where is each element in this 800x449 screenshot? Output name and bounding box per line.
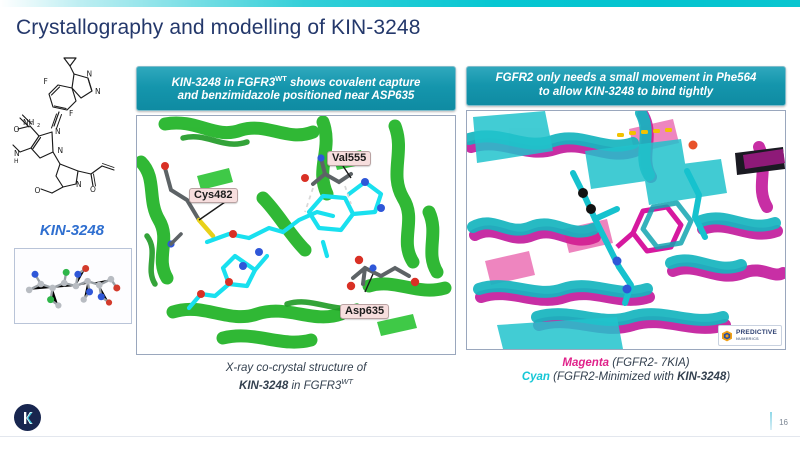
panel-left-header-sup: WT — [275, 74, 287, 83]
panel-right-header: FGFR2 only needs a small movement in Phe… — [466, 66, 786, 106]
panel-right-header-line1: FGFR2 only needs a small movement in Phe… — [496, 72, 757, 84]
svg-text:N: N — [95, 87, 101, 96]
legend-cyan-word: Cyan — [522, 371, 550, 383]
svg-text:O: O — [14, 125, 20, 134]
predictive-numerics-logo-icon — [721, 330, 733, 342]
badge-line2: NUMERICS — [736, 336, 777, 342]
page-number: 16 — [779, 418, 788, 427]
panel-right-caption: Magenta (FGFR2- 7KIA) Cyan (FGFR2-Minimi… — [466, 356, 786, 384]
svg-text:NH: NH — [23, 118, 34, 127]
svg-text:N: N — [58, 146, 64, 155]
panel-left-header-line2: and benzimidazole positioned near ASP635 — [178, 90, 415, 102]
fgfr3-structure-render — [137, 116, 455, 354]
compound-name-label: KIN-3248 — [8, 222, 136, 239]
panel-left-header-line1b: shows covalent capture — [287, 77, 421, 89]
residue-label-cys482: Cys482 — [189, 188, 238, 203]
kinnate-logo — [14, 404, 41, 431]
kin-3248-2d-chemical-structure: N N F F NH 2 O N N N H N O O — [8, 52, 136, 220]
residue-label-val555: Val555 — [327, 151, 371, 166]
svg-text:F: F — [44, 77, 48, 86]
svg-text:N: N — [14, 149, 20, 158]
page-number-rule — [770, 412, 772, 430]
svg-text:O: O — [90, 185, 96, 194]
fgfr2-overlay-render — [467, 111, 785, 349]
panel-fgfr3: KIN-3248 in FGFR3WT shows covalent captu… — [136, 66, 456, 393]
caption-left-sup: WT — [341, 377, 353, 386]
residue-label-asp635: Asp635 — [340, 304, 389, 319]
legend-cyan-detail-post: ) — [726, 371, 730, 383]
fgfr2-overlay-model-image: PREDICTIVE NUMERICS — [466, 110, 786, 350]
svg-text:H: H — [14, 158, 19, 165]
legend-magenta-detail: (FGFR2- 7KIA) — [609, 357, 690, 369]
fgfr3-wt-crystal-structure-image: Cys482 Val555 Asp635 — [136, 115, 456, 355]
kin-3248-3d-ball-stick-model — [15, 249, 131, 323]
svg-text:N: N — [55, 127, 61, 136]
k-logo-icon — [20, 410, 36, 426]
svg-text:F: F — [69, 109, 73, 118]
panel-left-caption: X-ray co-crystal structure of KIN-3248 i… — [136, 361, 456, 393]
svg-text:2: 2 — [37, 123, 40, 129]
legend-magenta-word: Magenta — [562, 357, 609, 369]
legend-cyan-compound: KIN-3248 — [677, 371, 726, 383]
caption-left-compound: KIN-3248 — [239, 380, 288, 392]
page-title: Crystallography and modelling of KIN-324… — [16, 16, 420, 40]
legend-cyan-detail-pre: (FGFR2-Minimized with — [550, 371, 677, 383]
top-accent-bar — [0, 0, 800, 7]
svg-text:O: O — [35, 186, 41, 195]
svg-text:N: N — [87, 70, 93, 79]
caption-left-line1: X-ray co-crystal structure of — [226, 362, 367, 374]
panel-left-header-line1: KIN-3248 in FGFR3 — [172, 77, 276, 89]
panel-fgfr2: FGFR2 only needs a small movement in Phe… — [466, 66, 786, 384]
caption-left-tail: in FGFR3 — [288, 380, 341, 392]
svg-text:N: N — [76, 180, 82, 189]
compound-column: N N F F NH 2 O N N N H N O O KIN-3248 — [8, 52, 136, 347]
slide: Crystallography and modelling of KIN-324… — [0, 0, 800, 449]
kin-3248-3d-model-box — [14, 248, 132, 324]
footer-divider — [0, 436, 800, 437]
predictive-numerics-badge: PREDICTIVE NUMERICS — [718, 325, 782, 346]
panel-left-header: KIN-3248 in FGFR3WT shows covalent captu… — [136, 66, 456, 111]
panel-right-header-line2: to allow KIN-3248 to bind tightly — [539, 86, 713, 98]
